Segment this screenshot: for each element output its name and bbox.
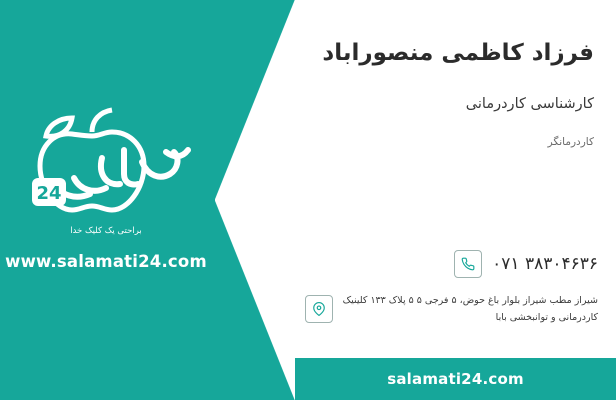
phone-number: ۳۸۳۰۴۶۳۶ ۰۷۱ [492,254,598,274]
address-line-2: کاردرمانی و توانبخشی بابا [343,309,598,326]
svg-text:24: 24 [36,183,61,204]
logo-tagline: براحتی یک کلیک خدا [0,226,212,236]
address-row: شیراز مطب شیراز بلوار باغ حوض، ۵ فرجی ۵ … [305,292,598,326]
phone-row: ۳۸۳۰۴۶۳۶ ۰۷۱ [454,250,598,278]
chevron-top-half [215,0,295,200]
address-line-1: شیراز مطب شیراز بلوار باغ حوض، ۵ فرجی ۵ … [343,292,598,309]
apple-logo-icon: 24 [14,100,209,220]
footer-bar: salamati24.com [295,358,616,400]
phone-icon [454,250,482,278]
footer-website: salamati24.com [387,370,524,388]
logo-website: www.salamati24.com [0,252,212,271]
location-pin-icon [305,295,333,323]
address-text: شیراز مطب شیراز بلوار باغ حوض، ۵ فرجی ۵ … [343,292,598,326]
chevron-bottom-half [215,200,295,400]
specialty-text: کارشناسی کاردرمانی [466,96,594,112]
page-title: فرزاد کاظمی منصوراباد [322,40,594,66]
role-text: کاردرمانگر [548,136,594,148]
business-card: 24 براحتی یک کلیک خدا www.salamati24.com… [0,0,616,400]
